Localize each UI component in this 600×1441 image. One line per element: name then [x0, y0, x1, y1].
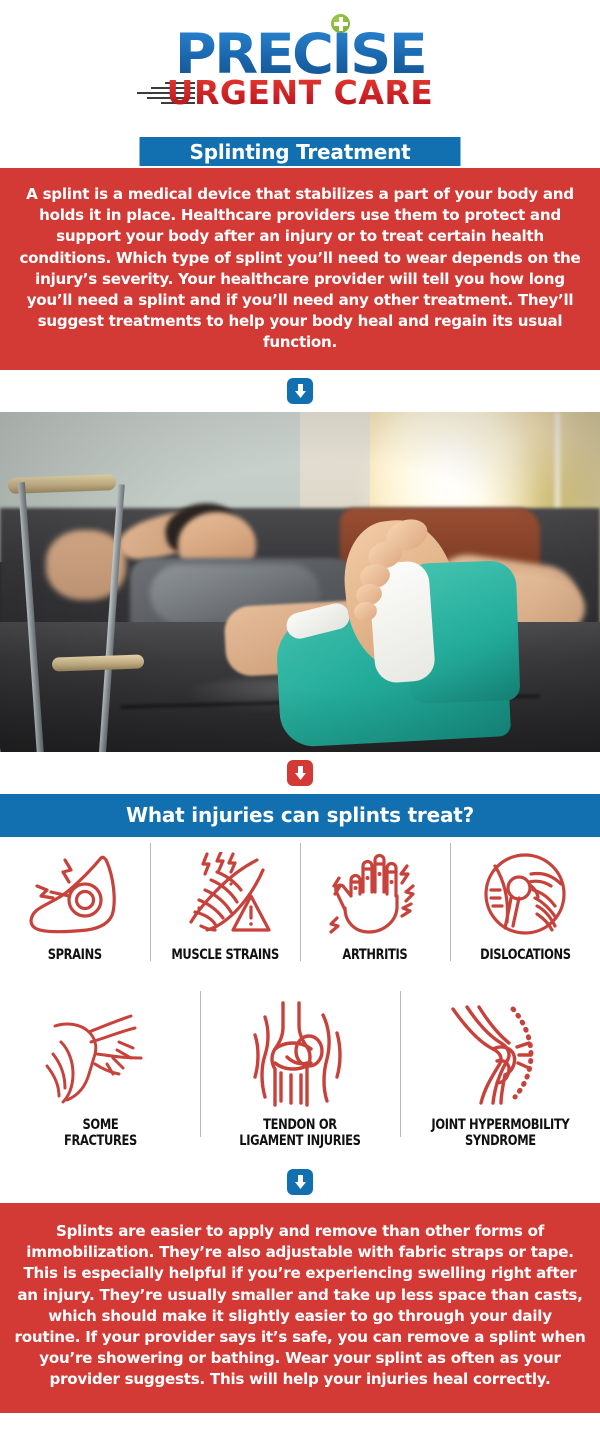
injury-label: ARTHRITIS: [343, 947, 408, 963]
injury-label-line2: LIGAMENT INJURIES: [239, 1133, 360, 1149]
photo-vignette: [0, 412, 600, 752]
injury-label: TENDON OR LIGAMENT INJURIES: [239, 1117, 360, 1149]
ankle-sprain-icon: [21, 847, 129, 943]
injury-item-tendon-ligament: TENDON OR LIGAMENT INJURIES: [200, 985, 400, 1161]
hero-photo: [0, 412, 600, 752]
down-arrow-icon: [287, 378, 313, 404]
injury-item-sprains: SPRAINS: [0, 837, 150, 985]
injury-label-line2: FRACTURES: [64, 1133, 137, 1149]
arrow-divider-1: [0, 370, 600, 412]
injury-label: SPRAINS: [48, 947, 102, 963]
injury-item-joint-hypermobility: JOINT HYPERMOBILITY SYNDROME: [400, 985, 600, 1161]
injury-grid-row2: SOME FRACTURES TENDON OR LIGAMENT INJURI…: [0, 985, 600, 1161]
brand-name-secondary: URGENT CARE: [135, 76, 465, 110]
section-heading: What injuries can splints treat?: [0, 794, 600, 837]
injury-item-muscle-strains: MUSCLE STRAINS: [150, 837, 300, 985]
injury-label-line1: TENDON OR: [263, 1117, 337, 1133]
injury-label: DISLOCATIONS: [480, 947, 571, 963]
injury-item-some-fractures: SOME FRACTURES: [0, 985, 200, 1161]
arthritic-hand-icon: [321, 847, 429, 943]
page-title-banner: Splinting Treatment: [138, 135, 463, 168]
injury-label: MUSCLE STRAINS: [171, 947, 279, 963]
arrow-divider-2: [0, 752, 600, 794]
injury-label-line1: SOME: [82, 1117, 118, 1133]
arrow-divider-3: [0, 1161, 600, 1203]
outro-text-block: Splints are easier to apply and remove t…: [0, 1203, 600, 1413]
injury-item-arthritis: ARTHRITIS: [300, 837, 450, 985]
page-title: Splinting Treatment: [190, 140, 411, 164]
hypermobile-knee-icon: [441, 995, 559, 1113]
injury-label-line2: SYNDROME: [465, 1133, 536, 1149]
down-arrow-icon: [287, 1169, 313, 1195]
bone-fracture-icon: [39, 995, 161, 1113]
injury-label: JOINT HYPERMOBILITY SYNDROME: [431, 1117, 569, 1149]
muscle-strain-warning-icon: [171, 847, 279, 943]
title-bar-zone: Splinting Treatment: [0, 132, 600, 168]
injury-label-line1: JOINT HYPERMOBILITY: [431, 1117, 569, 1133]
injury-grid-row1: SPRAINS MUSCLE STRAIN: [0, 837, 600, 985]
brand-logo: PRECISE URGENT CARE: [0, 0, 600, 132]
injury-item-dislocations: DISLOCATIONS: [450, 837, 600, 985]
injury-label: SOME FRACTURES: [64, 1117, 137, 1149]
intro-text-block: A splint is a medical device that stabil…: [0, 168, 600, 370]
knee-ligament-icon: [245, 995, 355, 1113]
shoulder-dislocation-icon: [471, 847, 579, 943]
down-arrow-icon: [287, 760, 313, 786]
